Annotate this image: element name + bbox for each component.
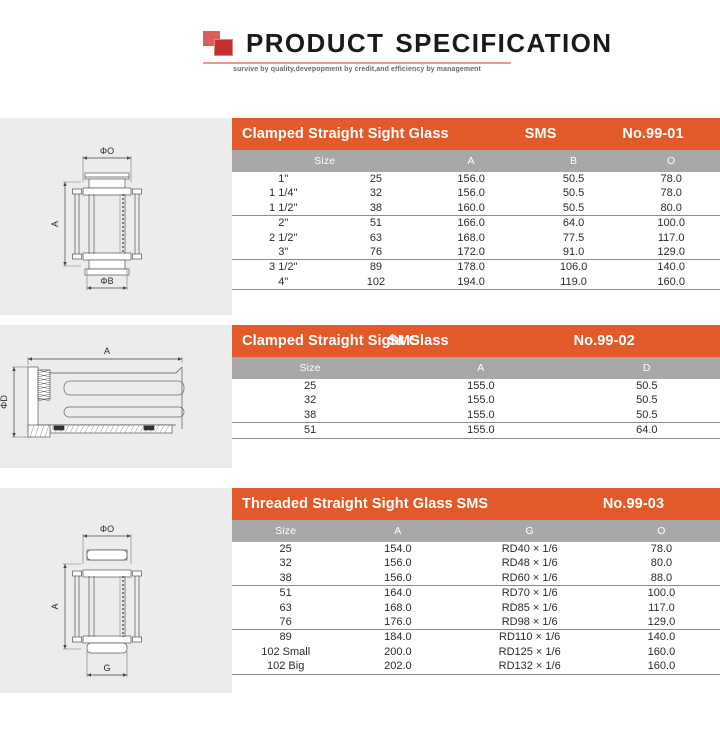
table-cell: 38 (232, 571, 339, 586)
table-cell: 64.0 (574, 423, 720, 438)
column-header-a: A (388, 357, 573, 379)
table-cell: 78.0 (603, 542, 720, 556)
table-title-row: Threaded Straight Sight GlassSMSNo.99-03 (232, 488, 720, 520)
svg-text:ΦO: ΦO (100, 146, 114, 156)
table-cell: 166.0 (417, 216, 524, 231)
table-cell: 25 (232, 379, 388, 393)
svg-text:G: G (103, 663, 110, 673)
table-title: Threaded Straight Sight Glass (232, 488, 456, 520)
threaded-straight-sight-glass-vertical-drawing-panel: ΦOAG (0, 488, 232, 693)
table-column-header-row: SizeABO (232, 150, 720, 172)
clamped-straight-sight-glass-horizontal-drawing: AΦD (0, 325, 232, 463)
table-row: 38155.050.5 (232, 408, 720, 423)
column-header-o: O (603, 520, 720, 542)
table-cell: 129.0 (622, 245, 720, 260)
table-cell: 200.0 (339, 645, 456, 659)
table-row: 2 1/2"63168.077.5117.0 (232, 231, 720, 245)
table-cell: 32 (334, 186, 417, 200)
table-row: 32155.050.5 (232, 393, 720, 407)
table-code: No.99-01 (622, 118, 720, 150)
table-cell: 102 Small (232, 645, 339, 659)
table-row: 25155.050.5 (232, 379, 720, 393)
column-header-size: Size (232, 150, 417, 172)
title-divider (203, 62, 511, 64)
column-header-a: A (339, 520, 456, 542)
table-cell: 50.5 (525, 186, 623, 200)
table-cell: 100.0 (603, 586, 720, 601)
table-row: 1 1/4"32156.050.578.0 (232, 186, 720, 200)
table-cell: 184.0 (339, 630, 456, 645)
table-row: 32156.0RD48 × 1/680.0 (232, 556, 720, 570)
table-cell: 100.0 (622, 216, 720, 231)
table-title: Clamped Straight Sight Glass (232, 325, 388, 357)
table-cell: RD125 × 1/6 (456, 645, 602, 659)
table-cell: 51 (232, 423, 388, 438)
table-cell: 155.0 (388, 393, 573, 407)
section-3-table-panel: Threaded Straight Sight GlassSMSNo.99-03… (232, 488, 720, 693)
page-title: PRODUCTSPECIFICATION (246, 28, 612, 58)
table-cell: 172.0 (417, 245, 524, 260)
section-3-spec-table: Threaded Straight Sight GlassSMSNo.99-03… (232, 488, 720, 675)
logo-square-dark-icon (214, 39, 233, 56)
table-cell: 2" (232, 216, 334, 231)
table-cell: 25 (232, 542, 339, 556)
table-cell: 129.0 (603, 615, 720, 630)
section-1-table-panel: Clamped Straight Sight GlassSMSNo.99-01S… (232, 118, 720, 315)
table-row: 25154.0RD40 × 1/678.0 (232, 542, 720, 556)
table-cell: RD70 × 1/6 (456, 586, 602, 601)
section-1: ΦOAΦBClamped Straight Sight GlassSMSNo.9… (0, 118, 720, 315)
table-cell: 106.0 (525, 260, 623, 275)
column-header-g: G (456, 520, 602, 542)
table-row: 4"102194.0119.0160.0 (232, 275, 720, 290)
table-cell: 102 (334, 275, 417, 290)
table-cell: 160.0 (622, 275, 720, 290)
table-cell: 155.0 (388, 423, 573, 438)
table-cell: 168.0 (339, 601, 456, 615)
table-code: No.99-02 (574, 325, 720, 357)
table-cell: RD110 × 1/6 (456, 630, 602, 645)
table-cell: 76 (232, 615, 339, 630)
table-cell: 78.0 (622, 186, 720, 200)
table-cell: 178.0 (417, 260, 524, 275)
section-gap (0, 315, 720, 325)
table-title-row: Clamped Straight Sight GlassSMSNo.99-01 (232, 118, 720, 150)
table-cell: RD40 × 1/6 (456, 542, 602, 556)
table-cell: 3" (232, 245, 334, 260)
table-cell: 51 (334, 216, 417, 231)
table-cell: 102 Big (232, 659, 339, 674)
table-row: 51155.064.0 (232, 423, 720, 438)
table-cell: 160.0 (417, 201, 524, 216)
table-cell: 140.0 (603, 630, 720, 645)
table-cell: 3 1/2" (232, 260, 334, 275)
table-column-header-row: SizeAD (232, 357, 720, 379)
table-cell: 117.0 (603, 601, 720, 615)
table-cell: RD85 × 1/6 (456, 601, 602, 615)
clamped-straight-sight-glass-vertical-drawing: ΦOAΦB (0, 118, 232, 310)
section-2: AΦDClamped Straight Sight GlassSMSNo.99-… (0, 325, 720, 468)
section-gap (0, 468, 720, 488)
table-cell: 32 (232, 556, 339, 570)
table-cell: 50.5 (574, 393, 720, 407)
table-cell: 89 (232, 630, 339, 645)
page-title-part2: SPECIFICATION (395, 28, 612, 58)
table-cell: RD60 × 1/6 (456, 571, 602, 586)
table-cell: 50.5 (574, 408, 720, 423)
section-3: ΦOAGThreaded Straight Sight GlassSMSNo.9… (0, 488, 720, 693)
table-cell: RD98 × 1/6 (456, 615, 602, 630)
table-cell: 194.0 (417, 275, 524, 290)
svg-text:ΦO: ΦO (100, 524, 114, 534)
table-row: 102 Small200.0RD125 × 1/6160.0 (232, 645, 720, 659)
table-row: 63168.0RD85 × 1/6117.0 (232, 601, 720, 615)
table-cell: 89 (334, 260, 417, 275)
section-2-table-panel: Clamped Straight Sight GlassSMSNo.99-02S… (232, 325, 720, 468)
table-cell: 80.0 (622, 201, 720, 216)
table-cell: 164.0 (339, 586, 456, 601)
table-cell: 119.0 (525, 275, 623, 290)
table-cell: 63 (334, 231, 417, 245)
table-cell: 168.0 (417, 231, 524, 245)
table-row: 3 1/2"89178.0106.0140.0 (232, 260, 720, 275)
table-standard: SMS (525, 118, 623, 150)
table-cell: 51 (232, 586, 339, 601)
table-cell: 176.0 (339, 615, 456, 630)
table-cell: 88.0 (603, 571, 720, 586)
table-cell: 38 (334, 201, 417, 216)
table-column-header-row: SizeAGO (232, 520, 720, 542)
table-row: 1"25156.050.578.0 (232, 172, 720, 186)
svg-text:ΦD: ΦD (0, 395, 9, 409)
table-standard: SMS (388, 325, 573, 357)
table-standard: SMS (456, 488, 602, 520)
table-cell: 63 (232, 601, 339, 615)
table-code: No.99-03 (603, 488, 720, 520)
table-cell: 156.0 (417, 186, 524, 200)
table-cell: 50.5 (525, 172, 623, 186)
column-header-a: A (417, 150, 524, 172)
svg-text:A: A (50, 221, 60, 227)
clamped-straight-sight-glass-horizontal-drawing-panel: AΦD (0, 325, 232, 468)
table-cell: 202.0 (339, 659, 456, 674)
table-cell: 80.0 (603, 556, 720, 570)
table-row: 3"76172.091.0129.0 (232, 245, 720, 260)
table-cell: 154.0 (339, 542, 456, 556)
table-cell: 38 (232, 408, 388, 423)
table-row: 102 Big202.0RD132 × 1/6160.0 (232, 659, 720, 674)
page-subtitle: survive by quality,devepopment by credit… (203, 66, 511, 73)
table-row: 38156.0RD60 × 1/688.0 (232, 571, 720, 586)
column-header-o: O (622, 150, 720, 172)
table-cell: 140.0 (622, 260, 720, 275)
column-header-size: Size (232, 357, 388, 379)
column-header-d: D (574, 357, 720, 379)
table-cell: 156.0 (339, 571, 456, 586)
table-cell: 160.0 (603, 645, 720, 659)
table-cell: 50.5 (574, 379, 720, 393)
table-cell: 76 (334, 245, 417, 260)
table-cell: 156.0 (339, 556, 456, 570)
table-row: 76176.0RD98 × 1/6129.0 (232, 615, 720, 630)
table-cell: 1" (232, 172, 334, 186)
table-cell: 156.0 (417, 172, 524, 186)
table-row: 1 1/2"38160.050.580.0 (232, 201, 720, 216)
table-cell: 4" (232, 275, 334, 290)
brand-block: PRODUCTSPECIFICATION (203, 28, 612, 59)
table-cell: 160.0 (603, 659, 720, 674)
svg-text:ΦB: ΦB (100, 276, 113, 286)
table-cell: RD132 × 1/6 (456, 659, 602, 674)
table-title-row: Clamped Straight Sight GlassSMSNo.99-02 (232, 325, 720, 357)
table-cell: 78.0 (622, 172, 720, 186)
column-header-b: B (525, 150, 623, 172)
table-row: 2"51166.064.0100.0 (232, 216, 720, 231)
page-header: PRODUCTSPECIFICATION survive by quality,… (0, 0, 720, 96)
specification-sections: ΦOAΦBClamped Straight Sight GlassSMSNo.9… (0, 96, 720, 693)
threaded-straight-sight-glass-vertical-drawing: ΦOAG (0, 488, 232, 688)
column-header-size: Size (232, 520, 339, 542)
svg-text:A: A (104, 346, 110, 356)
table-cell: 155.0 (388, 408, 573, 423)
table-cell: 2 1/2" (232, 231, 334, 245)
table-cell: 91.0 (525, 245, 623, 260)
table-row: 51164.0RD70 × 1/6100.0 (232, 586, 720, 601)
table-row: 89184.0RD110 × 1/6140.0 (232, 630, 720, 645)
clamped-straight-sight-glass-vertical-drawing-panel: ΦOAΦB (0, 118, 232, 315)
table-cell: 1 1/4" (232, 186, 334, 200)
table-cell: 77.5 (525, 231, 623, 245)
page-title-part1: PRODUCT (246, 28, 384, 58)
table-cell: 50.5 (525, 201, 623, 216)
table-cell: 155.0 (388, 379, 573, 393)
product-logo-icon (203, 31, 237, 59)
table-cell: 32 (232, 393, 388, 407)
section-2-spec-table: Clamped Straight Sight GlassSMSNo.99-02S… (232, 325, 720, 439)
section-gap (0, 96, 720, 118)
table-cell: 64.0 (525, 216, 623, 231)
table-title: Clamped Straight Sight Glass (232, 118, 525, 150)
section-1-spec-table: Clamped Straight Sight GlassSMSNo.99-01S… (232, 118, 720, 290)
table-cell: RD48 × 1/6 (456, 556, 602, 570)
svg-text:A: A (50, 603, 60, 609)
table-cell: 117.0 (622, 231, 720, 245)
table-cell: 25 (334, 172, 417, 186)
table-cell: 1 1/2" (232, 201, 334, 216)
